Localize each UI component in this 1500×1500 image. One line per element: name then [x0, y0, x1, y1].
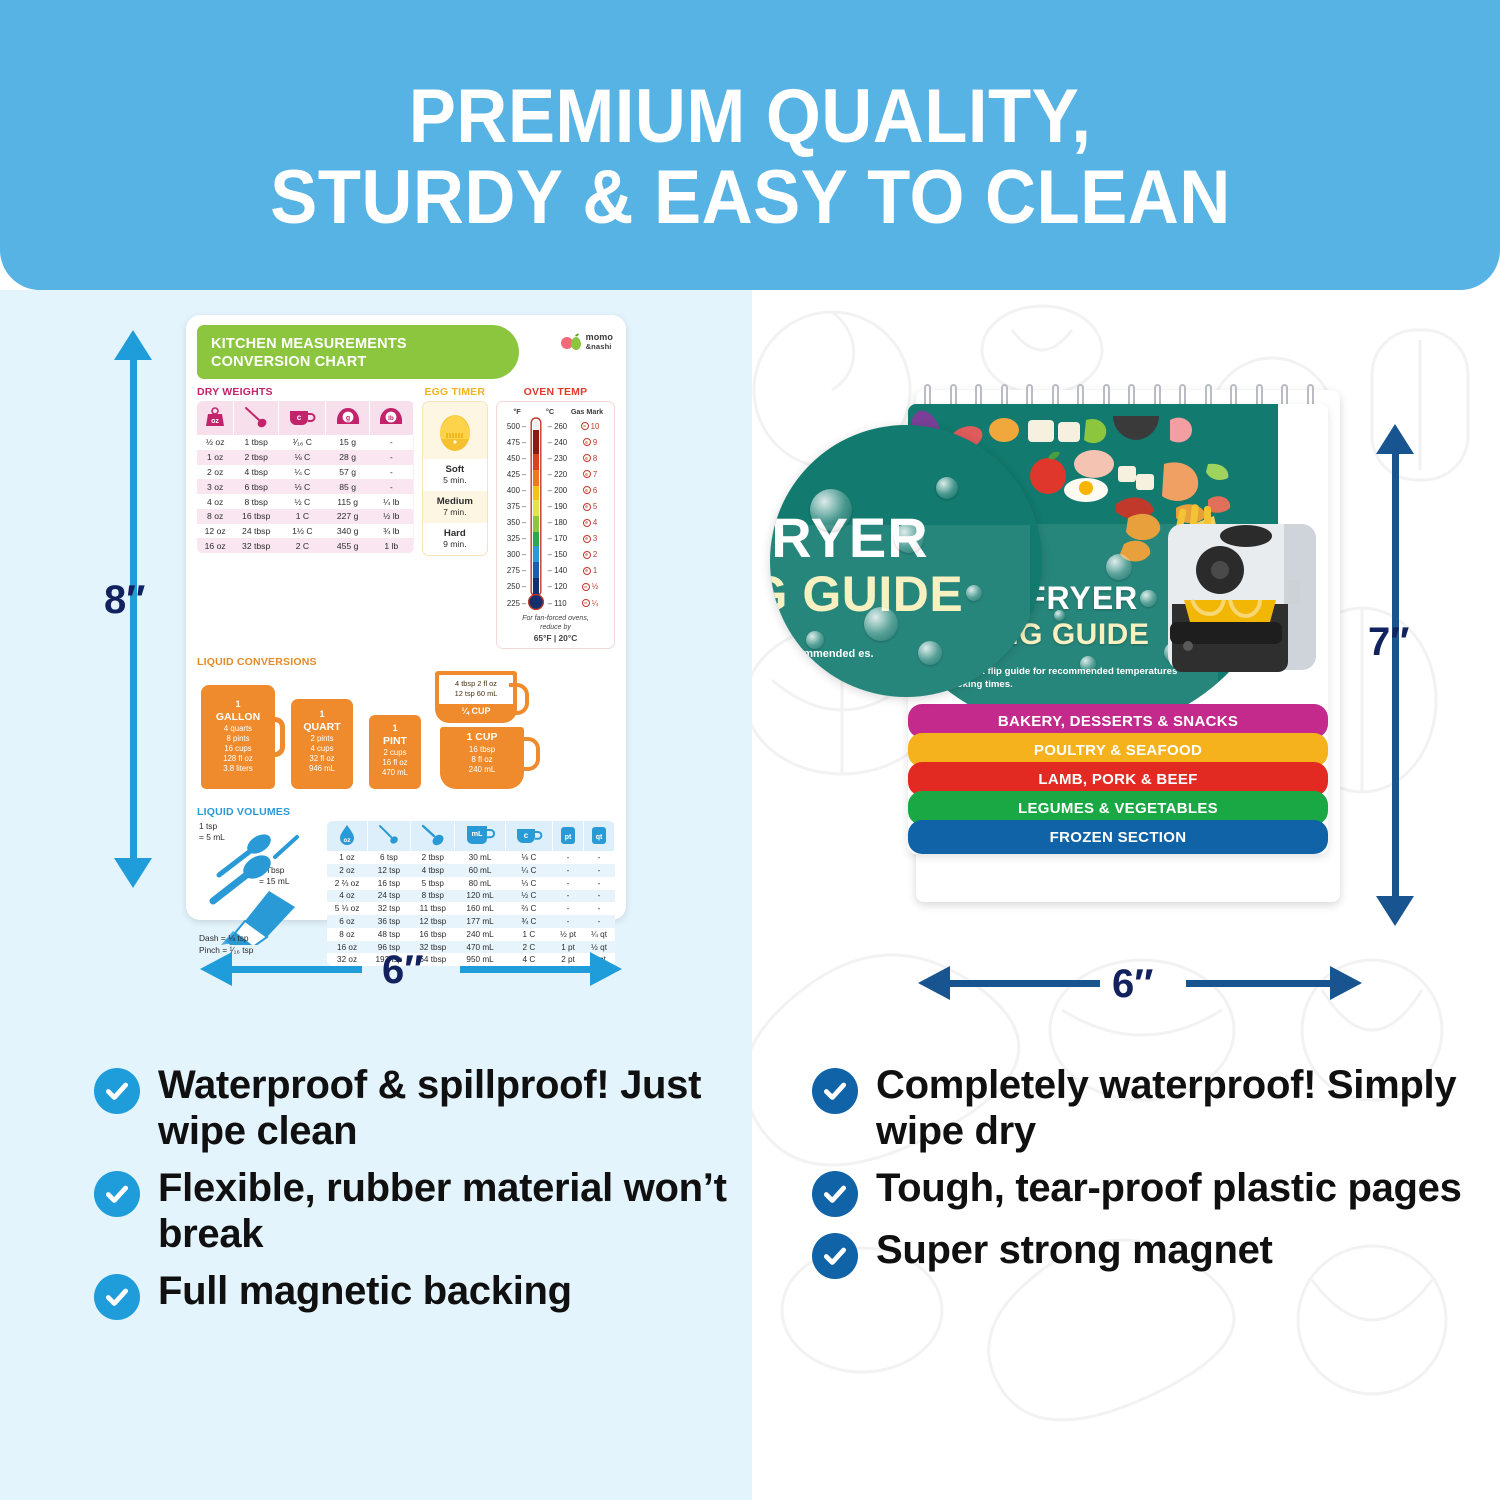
- table-row: 6 oz36 tsp12 tbsp177 mL¾ C--: [327, 915, 615, 928]
- oven-f-value: 425–: [501, 466, 528, 482]
- table-cell: 12 oz: [197, 524, 233, 539]
- gallon-line-2: 8 pints: [201, 734, 275, 744]
- peach-pear-icon: [560, 333, 582, 351]
- table-cell: 12 tbsp: [411, 915, 455, 928]
- table-cell: -: [369, 479, 413, 494]
- quarter-cup-icon: 4 tbsp 2 fl oz 12 tsp 60 mL ¼ CUP: [435, 671, 517, 723]
- egg-medium-label: Medium: [423, 496, 487, 507]
- table-cell: -: [369, 450, 413, 465]
- table-row: 32 oz192 tsp64 tbsp950 mL4 C2 pt1 qt: [327, 953, 615, 966]
- quarter-cup-line-1: 4 tbsp 2 fl oz: [439, 679, 513, 688]
- dash-note: Dash = ⅛ tsp: [199, 933, 249, 943]
- table-cell: 12 tsp: [367, 864, 411, 877]
- table-cell: 24 tbsp: [233, 524, 279, 539]
- table-cell: ¼ lb: [369, 494, 413, 509]
- table-row: 2 oz12 tsp4 tbsp60 mL¼ C--: [327, 864, 615, 877]
- table-cell: ⅓ C: [505, 877, 552, 890]
- quart-qty: 1: [291, 709, 353, 721]
- table-cell: 6 tsp: [367, 851, 411, 864]
- gas-mark-icon: [583, 503, 591, 511]
- egg-entry-soft: Soft 5 min.: [423, 459, 487, 491]
- gas-mark-icon: [582, 583, 590, 591]
- table-cell: 5 tbsp: [411, 877, 455, 890]
- table-cell: 4 oz: [197, 494, 233, 509]
- table-cell: -: [553, 915, 584, 928]
- tab-frozen-section[interactable]: FROZEN SECTION: [908, 820, 1328, 854]
- table-cell: 115 g: [326, 494, 370, 509]
- oven-f-value: 325–: [501, 531, 528, 547]
- oven-c-value: –140: [543, 563, 570, 579]
- gas-mark-icon: [583, 567, 591, 575]
- one-cup-label: 1 CUP: [467, 731, 498, 743]
- gas-mark-icon: [583, 470, 591, 478]
- liquid-conversions-title: LIQUID CONVERSIONS: [197, 656, 615, 668]
- feature-text: Tough, tear-proof plastic pages: [876, 1165, 1462, 1211]
- dry-weights-title: DRY WEIGHTS: [197, 386, 414, 398]
- egg-soft-label: Soft: [423, 464, 487, 475]
- gallon-name: GALLON: [216, 711, 260, 723]
- air-fryer-appliance-icon: [1154, 496, 1328, 696]
- table-cell: ¹⁄₁₆ C: [279, 435, 326, 450]
- gas-mark-icon: [583, 551, 591, 559]
- tab-label: POULTRY & SEAFOOD: [1034, 742, 1202, 759]
- table-cell: 36 tsp: [367, 915, 411, 928]
- oven-f-value: 475–: [501, 434, 528, 450]
- one-cup-line-1: 16 tbsp: [440, 745, 524, 755]
- table-cell: ¾ C: [505, 915, 552, 928]
- table-cell: 16 oz: [197, 538, 233, 553]
- liquid-volumes-body: 1 oz6 tsp2 tbsp30 mL⅛ C--2 oz12 tsp4 tbs…: [327, 851, 615, 966]
- check-icon: [94, 1274, 140, 1320]
- table-cell: -: [553, 864, 584, 877]
- left-width-label: 6″: [382, 948, 423, 993]
- table-cell: 227 g: [326, 509, 370, 524]
- table-cell: 2 C: [505, 941, 552, 954]
- table-cell: -: [369, 435, 413, 450]
- weight-icon: oz: [197, 401, 233, 435]
- check-icon: [812, 1068, 858, 1114]
- table-cell: 2 oz: [327, 864, 367, 877]
- liquid-volumes-notes: 1 tsp = 5 mL 1 Tbsp = 15 mL: [197, 821, 321, 966]
- feature-text: Flexible, rubber material won’t break: [158, 1165, 734, 1258]
- brand-logo: momo &nashi: [560, 333, 613, 351]
- one-cup-line-3: 240 mL: [440, 765, 524, 775]
- oven-gas-value: 2: [570, 547, 610, 563]
- oven-c-value: –260: [543, 418, 570, 434]
- quart-line-3: 32 fl oz: [291, 754, 353, 764]
- table-row: 8 oz48 tsp16 tbsp240 mL1 C½ pt¼ qt: [327, 928, 615, 941]
- oven-c-value: –120: [543, 579, 570, 595]
- pint-name: PINT: [383, 735, 407, 747]
- check-icon: [94, 1068, 140, 1114]
- chart-header: KITCHEN MEASUREMENTS CONVERSION CHART mo…: [197, 325, 615, 379]
- table-row: 2 ⅔ oz16 tsp5 tbsp80 mL⅓ C--: [327, 877, 615, 890]
- guide-title: FRYER: [1026, 580, 1138, 617]
- oven-c-value: –220: [543, 466, 570, 482]
- oven-temp-headers: °F °C Gas Mark: [501, 407, 610, 418]
- table-cell: 85 g: [326, 479, 370, 494]
- egg-hard-label: Hard: [423, 528, 487, 539]
- table-cell: 1½ C: [279, 524, 326, 539]
- table-cell: 4 C: [505, 953, 552, 966]
- feature-item: Flexible, rubber material won’t break: [94, 1165, 734, 1258]
- quarter-cup-line-2: 12 tsp 60 mL: [439, 689, 513, 698]
- oven-f-value: 350–: [501, 515, 528, 531]
- table-cell: 2 C: [279, 538, 326, 553]
- table-cell: ⅛ C: [505, 851, 552, 864]
- oven-gas-value: 3: [570, 531, 610, 547]
- table-row: 5 ⅓ oz32 tsp11 tbsp160 mL⅔ C--: [327, 902, 615, 915]
- table-cell: 1 tbsp: [233, 435, 279, 450]
- check-icon: [812, 1171, 858, 1217]
- oven-c-value: –190: [543, 498, 570, 514]
- quart-line-1: 2 pints: [291, 734, 353, 744]
- oven-temp-title: OVEN TEMP: [496, 386, 615, 398]
- oven-c-value: –240: [543, 434, 570, 450]
- table-cell: -: [584, 902, 615, 915]
- gallon-line-3: 16 cups: [201, 744, 275, 754]
- cup-icon: c: [279, 401, 326, 435]
- quart-carton-icon: 1 QUART 2 pints 4 cups 32 fl oz 946 mL: [291, 699, 353, 789]
- pint-line-1: 2 cups: [369, 748, 421, 758]
- oven-note-line-1: For fan-forced ovens,: [522, 615, 589, 622]
- tab-label: LEGUMES & VEGETABLES: [1018, 800, 1218, 817]
- drop-icon: oz: [327, 821, 367, 851]
- thermometer-icon: [528, 418, 543, 611]
- dry-weights-table: oz c g lb: [197, 401, 414, 553]
- feature-item: Tough, tear-proof plastic pages: [812, 1165, 1472, 1217]
- table-cell: 57 g: [326, 465, 370, 480]
- table-cell: 160 mL: [455, 902, 506, 915]
- table-cell: 6 oz: [327, 915, 367, 928]
- quart-line-2: 4 cups: [291, 744, 353, 754]
- table-cell: ½ pt: [553, 928, 584, 941]
- table-cell: 28 g: [326, 450, 370, 465]
- svg-text:g: g: [345, 415, 349, 422]
- table-cell: 1 oz: [197, 450, 233, 465]
- table-cell: 32 tsp: [367, 902, 411, 915]
- table-cell: 2 ⅔ oz: [327, 877, 367, 890]
- gas-mark-icon: [581, 422, 589, 430]
- table-cell: 16 oz: [327, 941, 367, 954]
- table-cell: -: [584, 851, 615, 864]
- left-features: Waterproof & spillproof! Just wipe clean…: [94, 1062, 734, 1330]
- gallon-line-1: 4 quarts: [201, 724, 275, 734]
- dry-weights-body: ½ oz1 tbsp¹⁄₁₆ C15 g-1 oz2 tbsp⅛ C28 g-2…: [197, 435, 413, 553]
- spoon-icon: [233, 401, 279, 435]
- quarter-cup-label: ¼ CUP: [439, 704, 513, 720]
- svg-text:c: c: [297, 413, 302, 422]
- table-cell: ½ C: [505, 890, 552, 903]
- table-cell: -: [553, 877, 584, 890]
- oven-f-value: 225–: [501, 595, 528, 611]
- tsp-spoon-icon: [367, 821, 411, 851]
- table-cell: 32 tbsp: [233, 538, 279, 553]
- table-cell: ⅛ C: [279, 450, 326, 465]
- oven-c-value: –150: [543, 547, 570, 563]
- feature-item: Completely waterproof! Simply wipe dry: [812, 1062, 1472, 1155]
- table-cell: 1 pt: [553, 941, 584, 954]
- oven-f-value: 400–: [501, 482, 528, 498]
- table-cell: 8 oz: [197, 509, 233, 524]
- table-cell: -: [584, 915, 615, 928]
- pint-carton-icon: 1 PINT 2 cups 16 fl oz 470 mL: [369, 715, 421, 789]
- table-row: 3 oz6 tbsp⅓ C85 g-: [197, 479, 413, 494]
- liquid-conversions-graphics: 1 GALLON 4 quarts 8 pints 16 cups 128 fl…: [197, 671, 615, 799]
- oven-note-value: 65°F | 20°C: [534, 633, 578, 643]
- table-cell: 455 g: [326, 538, 370, 553]
- product-infographic: PREMIUM QUALITY, STURDY & EASY TO CLEAN: [0, 0, 1500, 1500]
- oven-gas-value: 1: [570, 563, 610, 579]
- table-cell: 1 C: [505, 928, 552, 941]
- table-cell: 30 mL: [455, 851, 506, 864]
- scale-lb-icon: lb: [369, 401, 413, 435]
- table-cell: 2 pt: [553, 953, 584, 966]
- gas-mark-icon: [583, 519, 591, 527]
- quart-name: QUART: [303, 721, 340, 733]
- table-cell: 1 oz: [327, 851, 367, 864]
- tab-label: FROZEN SECTION: [1050, 829, 1187, 846]
- egg-hard-time: 9 min.: [443, 539, 466, 549]
- table-cell: 2 tbsp: [411, 851, 455, 864]
- table-cell: 4 tbsp: [233, 465, 279, 480]
- table-cell: 3 oz: [197, 479, 233, 494]
- egg-icon: [423, 402, 487, 459]
- table-cell: 240 mL: [455, 928, 506, 941]
- table-row: 4 oz8 tbsp½ C115 g¼ lb: [197, 494, 413, 509]
- table-cell: 8 tbsp: [233, 494, 279, 509]
- feature-text: Completely waterproof! Simply wipe dry: [876, 1062, 1472, 1155]
- headline-line-2: STURDY & EASY TO CLEAN: [270, 158, 1231, 239]
- table-cell: 2 tbsp: [233, 450, 279, 465]
- table-cell: 11 tbsp: [411, 902, 455, 915]
- oven-header-f: °F: [502, 407, 532, 416]
- svg-text:oz: oz: [343, 837, 350, 844]
- svg-text:c: c: [524, 831, 529, 840]
- table-cell: 60 mL: [455, 864, 506, 877]
- table-cell: 6 tbsp: [233, 479, 279, 494]
- oven-gas-value: 10: [570, 418, 610, 434]
- table-cell: -: [584, 864, 615, 877]
- table-cell: 4 oz: [327, 890, 367, 903]
- svg-text:qt: qt: [596, 834, 603, 841]
- oven-header-c: °C: [535, 407, 565, 416]
- chart-title-line-1: KITCHEN MEASUREMENTS: [211, 336, 407, 352]
- tbsp-spoon-icon: [411, 821, 455, 851]
- kitchen-conversion-chart-card: KITCHEN MEASUREMENTS CONVERSION CHART mo…: [186, 315, 626, 920]
- table-cell: ¾ lb: [369, 524, 413, 539]
- table-cell: ½ lb: [369, 509, 413, 524]
- right-height-label: 7″: [1368, 620, 1409, 665]
- table-cell: 8 tbsp: [411, 890, 455, 903]
- table-row: 2 oz4 tbsp¼ C57 g-: [197, 465, 413, 480]
- oven-c-value: –200: [543, 482, 570, 498]
- brand-primary: momo: [586, 332, 613, 342]
- table-cell: 2 oz: [197, 465, 233, 480]
- egg-timer-box: Soft 5 min. Medium 7 min. Hard 9 min.: [422, 401, 488, 556]
- table-cell: -: [369, 465, 413, 480]
- liquid-volumes-table: oz mL c pt qt 1 oz6 tsp2 tbsp30 mL⅛ C--2…: [327, 821, 615, 966]
- table-cell: 24 tsp: [367, 890, 411, 903]
- table-cell: 8 oz: [327, 928, 367, 941]
- oven-note: For fan-forced ovens, reduce by 65°F | 2…: [501, 615, 610, 644]
- table-row: ½ oz1 tbsp¹⁄₁₆ C15 g-: [197, 435, 413, 450]
- table-cell: 1 C: [279, 509, 326, 524]
- table-cell: 470 mL: [455, 941, 506, 954]
- table-cell: ¼ C: [505, 864, 552, 877]
- oven-gas-value: 8: [570, 450, 610, 466]
- table-row: 1 oz6 tsp2 tbsp30 mL⅛ C--: [327, 851, 615, 864]
- table-cell: ¼ C: [279, 465, 326, 480]
- table-cell: ⅓ C: [279, 479, 326, 494]
- oven-gas-value: 5: [570, 498, 610, 514]
- table-cell: 16 tsp: [367, 877, 411, 890]
- oven-f-column: 500–475–450–425–400–375–350–325–300–275–…: [501, 418, 528, 611]
- guide-category-tabs: BAKERY, DESSERTS & SNACKS POULTRY & SEAF…: [908, 709, 1328, 854]
- table-cell: 80 mL: [455, 877, 506, 890]
- oven-gas-value: 9: [570, 434, 610, 450]
- oven-f-value: 275–: [501, 563, 528, 579]
- table-row: 1 oz2 tbsp⅛ C28 g-: [197, 450, 413, 465]
- oven-gas-value: 7: [570, 466, 610, 482]
- feature-item: Full magnetic backing: [94, 1268, 734, 1320]
- gas-mark-icon: [583, 535, 591, 543]
- gallon-line-5: 3.8 liters: [201, 764, 275, 774]
- table-row: 16 oz32 tbsp2 C455 g1 lb: [197, 538, 413, 553]
- brand-secondary: &nashi: [586, 343, 613, 351]
- svg-text:mL: mL: [472, 829, 484, 838]
- tab-label: BAKERY, DESSERTS & SNACKS: [998, 713, 1238, 730]
- table-cell: ½ C: [279, 494, 326, 509]
- table-row: 16 oz96 tsp32 tbsp470 mL2 C1 pt½ qt: [327, 941, 615, 954]
- egg-entry-medium: Medium 7 min.: [423, 491, 487, 523]
- table-cell: ⅔ C: [505, 902, 552, 915]
- table-cell: 16 tbsp: [233, 509, 279, 524]
- pitcher-icon: 1 GALLON 4 quarts 8 pints 16 cups 128 fl…: [201, 685, 275, 789]
- pt-icon: pt: [553, 821, 584, 851]
- oven-c-value: –110: [543, 595, 570, 611]
- mug-icon: mL: [455, 821, 506, 851]
- feature-text: Waterproof & spillproof! Just wipe clean: [158, 1062, 734, 1155]
- table-cell: 950 mL: [455, 953, 506, 966]
- scale-g-icon: g: [326, 401, 370, 435]
- table-cell: 5 ⅓ oz: [327, 902, 367, 915]
- table-cell: 4 tbsp: [411, 864, 455, 877]
- egg-entry-hard: Hard 9 min.: [423, 523, 487, 555]
- check-icon: [812, 1233, 858, 1279]
- table-row: 4 oz24 tsp8 tbsp120 mL½ C--: [327, 890, 615, 903]
- oven-c-value: –230: [543, 450, 570, 466]
- oven-gas-value: ¼: [570, 595, 610, 611]
- headline-line-1: PREMIUM QUALITY,: [409, 77, 1092, 158]
- chart-title-line-2: CONVERSION CHART: [211, 354, 366, 370]
- table-cell: -: [553, 851, 584, 864]
- svg-text:pt: pt: [565, 834, 572, 841]
- gas-mark-icon: [583, 438, 591, 446]
- check-icon: [94, 1171, 140, 1217]
- gas-mark-icon: [583, 454, 591, 462]
- oven-gas-value: 4: [570, 515, 610, 531]
- pint-line-2: 16 fl oz: [369, 758, 421, 768]
- table-cell: 48 tsp: [367, 928, 411, 941]
- oven-f-value: 300–: [501, 547, 528, 563]
- oven-f-value: 450–: [501, 450, 528, 466]
- cup-icon: c: [505, 821, 552, 851]
- qt-icon: qt: [584, 821, 615, 851]
- table-cell: 340 g: [326, 524, 370, 539]
- one-cup-icon: 1 CUP 16 tbsp 8 fl oz 240 mL: [440, 727, 524, 789]
- oven-f-value: 500–: [501, 418, 528, 434]
- egg-soft-time: 5 min.: [443, 475, 466, 485]
- table-cell: 177 mL: [455, 915, 506, 928]
- oven-f-value: 375–: [501, 498, 528, 514]
- table-cell: ¼ qt: [584, 928, 615, 941]
- left-height-label: 8″: [104, 578, 145, 623]
- feature-item: Super strong magnet: [812, 1227, 1472, 1279]
- gas-mark-icon: [582, 599, 590, 607]
- svg-text:lb: lb: [388, 415, 394, 422]
- brand-name: momo &nashi: [586, 333, 613, 350]
- table-cell: -: [584, 890, 615, 903]
- quart-line-4: 946 mL: [291, 764, 353, 774]
- egg-medium-time: 7 min.: [443, 507, 466, 517]
- table-cell: 15 g: [326, 435, 370, 450]
- table-cell: -: [553, 902, 584, 915]
- oven-c-value: –180: [543, 515, 570, 531]
- egg-timer-title: EGG TIMER: [422, 386, 488, 398]
- liquid-volumes-title: LIQUID VOLUMES: [197, 806, 615, 818]
- svg-text:oz: oz: [211, 418, 219, 425]
- table-cell: -: [553, 890, 584, 903]
- one-cup-line-2: 8 fl oz: [440, 755, 524, 765]
- tab-label: LAMB, PORK & BEEF: [1038, 771, 1197, 788]
- oven-f-value: 250–: [501, 579, 528, 595]
- table-cell: 32 oz: [327, 953, 367, 966]
- gas-mark-icon: [583, 486, 591, 494]
- oven-header-gas: Gas Mark: [565, 407, 609, 416]
- table-cell: 1 lb: [369, 538, 413, 553]
- table-row: 8 oz16 tbsp1 C227 g½ lb: [197, 509, 413, 524]
- table-cell: -: [584, 877, 615, 890]
- pint-qty: 1: [369, 723, 421, 735]
- oven-temp-box: °F °C Gas Mark 500–475–450–425–400–375–3…: [496, 401, 615, 649]
- table-cell: 16 tbsp: [411, 928, 455, 941]
- oven-gas-value: 6: [570, 482, 610, 498]
- oven-c-value: –170: [543, 531, 570, 547]
- gallon-line-4: 128 fl oz: [201, 754, 275, 764]
- header-banner: PREMIUM QUALITY, STURDY & EASY TO CLEAN: [0, 0, 1500, 290]
- oven-note-line-2: reduce by: [540, 624, 571, 631]
- right-features: Completely waterproof! Simply wipe dry T…: [812, 1062, 1472, 1289]
- table-cell: ½ oz: [197, 435, 233, 450]
- magnifier-description: recommended es.: [780, 647, 1000, 661]
- table-cell: 120 mL: [455, 890, 506, 903]
- gallon-qty: 1: [201, 699, 275, 711]
- feature-item: Waterproof & spillproof! Just wipe clean: [94, 1062, 734, 1155]
- oven-gas-column: 10987654321½¼: [570, 418, 610, 611]
- right-width-label: 6″: [1112, 962, 1153, 1007]
- oven-c-column: –260–240–230–220–200–190–180–170–150–140…: [543, 418, 570, 611]
- feature-text: Super strong magnet: [876, 1227, 1273, 1273]
- magnifier-zoom-circle: FRYER NG GUIDE recommended es.: [770, 425, 1042, 697]
- table-row: 12 oz24 tbsp1½ C340 g¾ lb: [197, 524, 413, 539]
- feature-text: Full magnetic backing: [158, 1268, 572, 1314]
- chart-title: KITCHEN MEASUREMENTS CONVERSION CHART: [197, 325, 519, 379]
- oven-gas-value: ½: [570, 579, 610, 595]
- pint-line-3: 470 mL: [369, 768, 421, 778]
